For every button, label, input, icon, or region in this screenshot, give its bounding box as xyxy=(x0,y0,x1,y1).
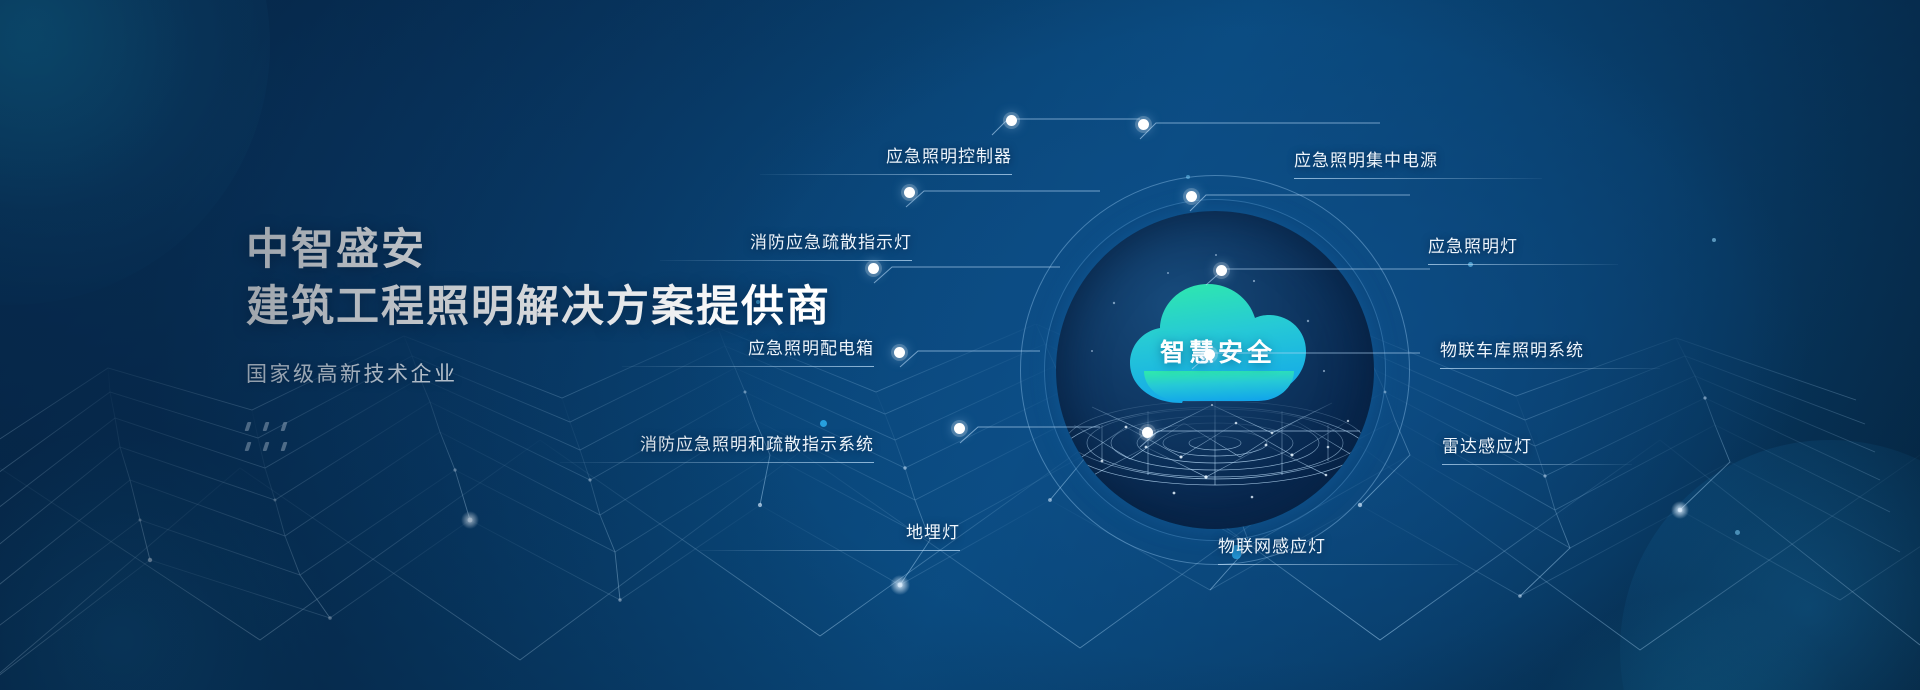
page-title-line-2: 建筑工程照明解决方案提供商 xyxy=(246,279,886,336)
diagram-node[interactable] xyxy=(1186,191,1197,202)
cloud-center-label: 智慧安全 xyxy=(1120,333,1316,369)
callout-underline xyxy=(1218,564,1458,565)
callout-iot-sensor-light[interactable]: 物联网感应灯 xyxy=(1218,538,1458,565)
callout-underline xyxy=(622,366,874,367)
callout-fire-evacuation-indicator-lamp[interactable]: 消防应急疏散指示灯 xyxy=(660,234,912,261)
callout-label: 雷达感应灯 xyxy=(1442,438,1632,455)
callout-underline xyxy=(1440,368,1660,369)
callout-label: 应急照明集中电源 xyxy=(1294,152,1542,169)
decorative-dot-grid xyxy=(246,418,310,458)
spark-dot xyxy=(1712,238,1716,242)
callout-fire-emergency-lighting-evacuation-system[interactable]: 消防应急照明和疏散指示系统 xyxy=(560,436,874,463)
diagram-node[interactable] xyxy=(1006,115,1017,126)
callout-emergency-central-power[interactable]: 应急照明集中电源 xyxy=(1294,152,1542,179)
diagram-node[interactable] xyxy=(1142,427,1153,438)
callout-label: 物联车库照明系统 xyxy=(1440,342,1660,359)
background-circle-top-left-large xyxy=(0,0,270,305)
callout-label: 应急照明配电箱 xyxy=(622,340,874,357)
callout-underline xyxy=(560,462,874,463)
background-circle-bottom-right-large xyxy=(1620,440,1920,690)
callout-underline xyxy=(760,174,1012,175)
diagram-node[interactable] xyxy=(868,263,879,274)
callout-underline xyxy=(700,550,960,551)
callout-underline xyxy=(1428,264,1618,265)
callout-underline xyxy=(660,260,912,261)
diagram-node[interactable] xyxy=(1204,349,1215,360)
callout-buried-light[interactable]: 地埋灯 xyxy=(700,524,960,551)
callout-label: 消防应急照明和疏散指示系统 xyxy=(560,436,874,453)
background-circle-bottom-left xyxy=(0,430,330,690)
diagram-node[interactable] xyxy=(894,347,905,358)
callout-label: 应急照明灯 xyxy=(1428,238,1618,255)
diagram-node[interactable] xyxy=(1138,119,1149,130)
callout-radar-sensor-light[interactable]: 雷达感应灯 xyxy=(1442,438,1632,465)
callout-label: 地埋灯 xyxy=(700,524,960,541)
callout-emergency-lighting-controller[interactable]: 应急照明控制器 xyxy=(760,148,1012,175)
banner-stage: 中智盛安 建筑工程照明解决方案提供商 国家级高新技术企业 xyxy=(0,0,1920,690)
callout-emergency-light[interactable]: 应急照明灯 xyxy=(1428,238,1618,265)
diagram-node[interactable] xyxy=(954,423,965,434)
callout-underline xyxy=(1442,464,1632,465)
background-circle-top-left-small xyxy=(0,0,190,210)
callout-label: 消防应急疏散指示灯 xyxy=(660,234,912,251)
cloud-icon: 智慧安全 xyxy=(1120,275,1316,407)
callout-emergency-distribution-box[interactable]: 应急照明配电箱 xyxy=(622,340,874,367)
callout-label: 应急照明控制器 xyxy=(760,148,1012,165)
spark-dot xyxy=(1735,530,1740,535)
diagram-node[interactable] xyxy=(904,187,915,198)
background-circle-bottom-right-small xyxy=(1530,590,1860,690)
diagram-node[interactable] xyxy=(1216,265,1227,276)
callout-label: 物联网感应灯 xyxy=(1218,538,1458,555)
callout-underline xyxy=(1294,178,1542,179)
callout-iot-garage-lighting-system[interactable]: 物联车库照明系统 xyxy=(1440,342,1660,369)
